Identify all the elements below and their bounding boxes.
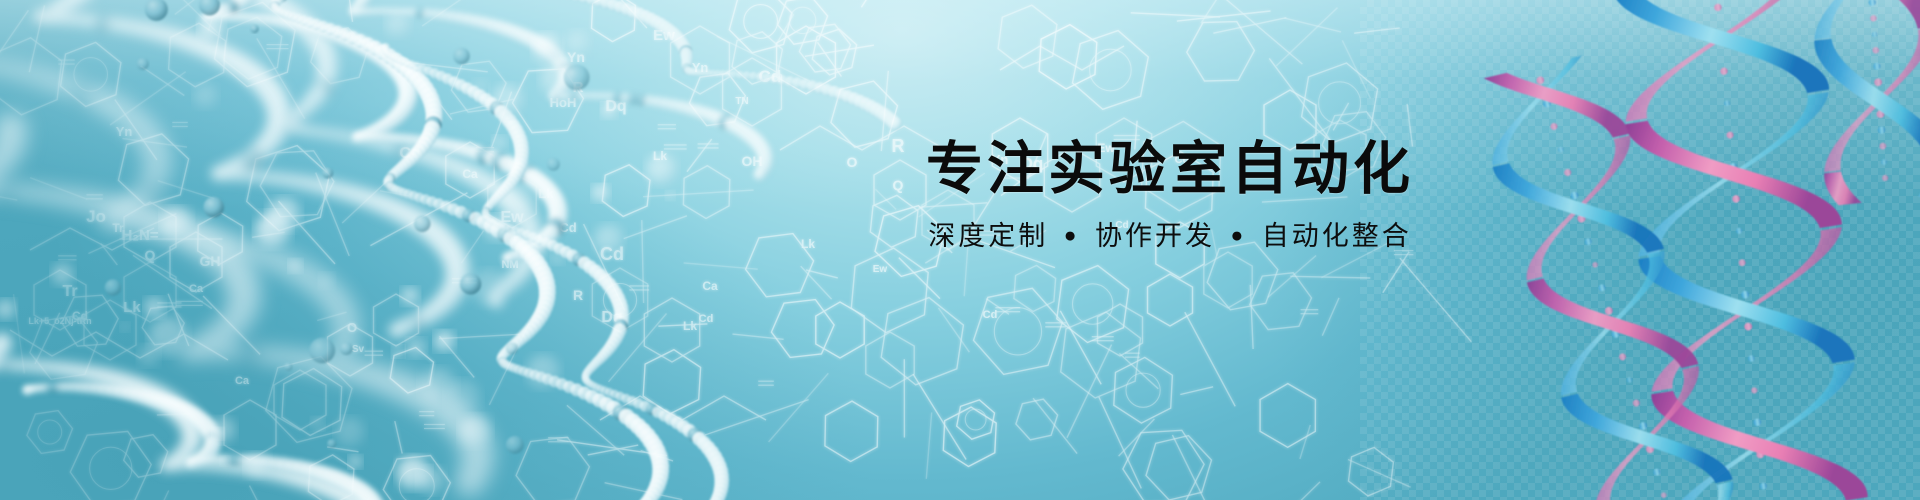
hero-banner: CdYnEwYnRHoHDqTNROYnDqEwCdOHLkCdCaLkEwCd…: [0, 0, 1920, 500]
dna-double-helix-ribbon: [0, 0, 1920, 500]
